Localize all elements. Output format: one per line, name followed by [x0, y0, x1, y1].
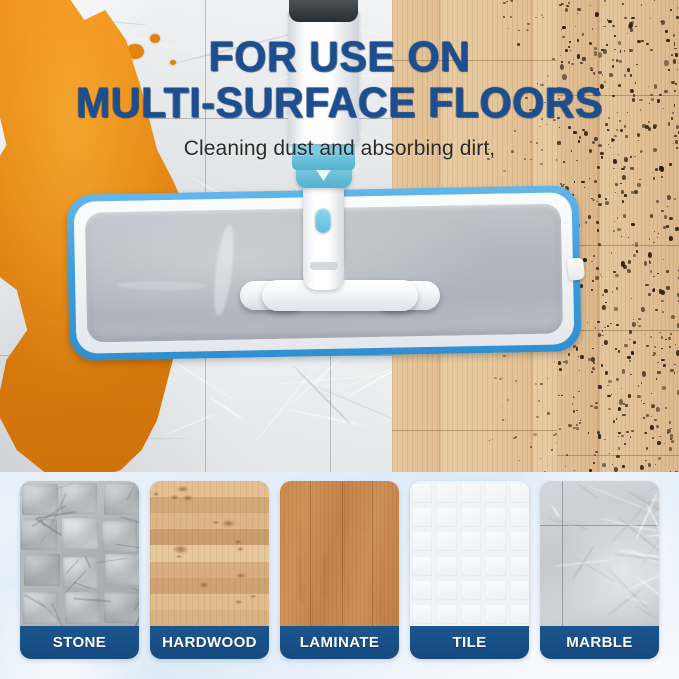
- dirt-speck: [507, 336, 509, 338]
- tile-square: [412, 483, 432, 503]
- dirt-speck: [499, 378, 502, 380]
- dirt-speck: [640, 465, 644, 470]
- dirt-speck: [646, 414, 649, 417]
- dirt-speck: [668, 69, 670, 71]
- dirt-speck: [637, 40, 641, 43]
- swatch-laminate-texture: [280, 481, 399, 626]
- dirt-speck: [536, 416, 538, 418]
- dirt-speck: [576, 347, 578, 349]
- dirt-speck: [577, 8, 581, 12]
- dirt-speck: [622, 414, 626, 417]
- laminate-grain: [379, 590, 382, 623]
- dirt-speck: [574, 181, 576, 183]
- dirt-speck: [571, 63, 574, 65]
- dirt-speck: [507, 188, 508, 189]
- dirt-speck: [631, 430, 634, 432]
- dirt-speck: [557, 117, 560, 119]
- dirt-speck: [612, 59, 615, 61]
- dirt-speck: [597, 321, 600, 323]
- dirt-speck: [559, 4, 561, 6]
- dirt-speck: [627, 68, 630, 71]
- dirt-speck: [565, 289, 568, 293]
- dirt-speck: [650, 336, 652, 338]
- tile-square: [485, 483, 505, 503]
- dirt-speck: [610, 323, 612, 325]
- dirt-speck: [612, 65, 614, 68]
- marble-grout-line: [205, 0, 206, 472]
- dirt-speck: [569, 41, 571, 43]
- dirt-speck: [585, 221, 587, 224]
- dirt-speck: [669, 421, 671, 423]
- dirt-speck: [557, 141, 561, 145]
- dirt-speck: [632, 322, 636, 326]
- dirt-speck: [514, 130, 516, 132]
- dirt-speck: [622, 465, 625, 468]
- dirt-speck: [581, 181, 585, 184]
- dirt-speck: [521, 221, 522, 222]
- laminate-grain: [381, 617, 385, 626]
- dirt-speck: [615, 348, 617, 350]
- dirt-speck: [507, 399, 509, 401]
- dirt-speck: [593, 462, 595, 464]
- tile-square: [510, 580, 529, 600]
- dirt-speck: [627, 356, 630, 359]
- dirt-speck: [659, 94, 662, 96]
- dirt-speck: [670, 9, 673, 11]
- dirt-speck: [572, 403, 573, 405]
- dirt-speck: [559, 282, 562, 286]
- dirt-speck: [641, 40, 644, 43]
- dirt-speck: [551, 449, 553, 451]
- dirt-speck: [674, 44, 675, 46]
- dirt-speck: [573, 131, 576, 135]
- dirt-speck: [578, 391, 580, 392]
- dirt-speck: [592, 28, 593, 30]
- dirt-speck: [562, 276, 565, 279]
- dirt-speck: [560, 183, 562, 185]
- dirt-speck: [530, 247, 531, 248]
- marble-vein: [259, 88, 404, 154]
- dirt-speck: [601, 156, 603, 159]
- dirt-speck: [576, 283, 577, 285]
- dirt-speck: [565, 49, 567, 52]
- dirt-speck: [657, 237, 658, 238]
- dirt-speck: [530, 159, 531, 160]
- dirt-speck: [488, 351, 491, 353]
- dirt-speck: [638, 318, 640, 321]
- dirt-speck: [649, 103, 650, 104]
- dirt-speck: [565, 466, 567, 467]
- marble-grout-line: [562, 481, 563, 626]
- dirt-speck: [621, 236, 622, 237]
- dirt-speck: [577, 287, 581, 291]
- dirt-speck: [662, 311, 665, 313]
- dirt-speck: [571, 237, 574, 239]
- dirt-speck: [676, 125, 679, 129]
- wood-knot: [222, 520, 235, 527]
- dirt-speck: [617, 217, 619, 219]
- dirt-speck: [508, 262, 511, 264]
- dirt-speck: [552, 252, 555, 254]
- dirt-speck: [594, 47, 597, 50]
- dirt-speck: [614, 49, 616, 50]
- dirt-speck: [618, 407, 621, 411]
- dirt-speck: [619, 60, 622, 63]
- dirt-speck: [656, 425, 659, 428]
- dirt-speck: [591, 371, 593, 373]
- dirt-speck: [513, 437, 516, 439]
- dirt-speck: [677, 69, 678, 70]
- dirt-speck: [657, 273, 659, 275]
- dirt-speck: [536, 301, 539, 303]
- dirt-speck: [498, 324, 499, 325]
- dirt-speck: [630, 167, 633, 171]
- wood-plank-seam: [557, 330, 679, 331]
- dirt-speck: [598, 194, 602, 198]
- dirt-speck: [635, 26, 638, 28]
- dirt-speck: [562, 26, 565, 29]
- dirt-speck: [560, 64, 564, 70]
- wood-plank-seam: [392, 430, 557, 431]
- dirt-speck: [568, 126, 571, 129]
- dirt-speck: [619, 120, 621, 122]
- swatch-stone[interactable]: STONE: [20, 481, 139, 659]
- dirt-speck: [661, 20, 665, 25]
- dirt-speck: [577, 13, 579, 14]
- dirt-speck: [568, 2, 570, 4]
- dirt-speck: [652, 437, 654, 440]
- dirt-speck: [558, 361, 561, 365]
- tile-square: [485, 580, 505, 600]
- dirt-speck: [650, 425, 654, 430]
- tile-square: [436, 604, 456, 624]
- dirt-speck: [558, 337, 559, 338]
- swatch-tile[interactable]: TILE: [410, 481, 529, 659]
- hardwood-plank: [150, 497, 269, 514]
- dirt-speck: [646, 43, 649, 45]
- dirt-speck: [617, 228, 621, 231]
- swatch-stone-texture: [20, 481, 139, 626]
- dirt-speck: [658, 233, 659, 234]
- marble-vein: [176, 31, 301, 64]
- wood-knot: [235, 600, 242, 604]
- swatch-laminate[interactable]: LAMINATE: [280, 481, 399, 659]
- dirt-speck: [564, 304, 566, 305]
- dirt-speck: [674, 90, 676, 92]
- dirt-speck: [627, 33, 628, 34]
- dirt-speck: [502, 377, 504, 378]
- hardwood-plank: [150, 545, 269, 562]
- dirt-speck: [675, 83, 677, 85]
- dirt-speck: [576, 410, 578, 411]
- marble-vein: [269, 263, 355, 363]
- dirt-speck: [576, 223, 580, 228]
- dirt-speck: [547, 202, 548, 203]
- wood-knot: [176, 555, 183, 559]
- dirt-speck: [598, 333, 601, 337]
- tile-square: [412, 556, 432, 576]
- dirt-speck: [648, 463, 650, 466]
- dirt-speck: [613, 159, 616, 164]
- dirt-speck: [598, 203, 602, 206]
- laminate-plank-seam: [372, 481, 373, 626]
- hardwood-plank: [150, 481, 269, 498]
- dirt-speck: [541, 14, 544, 16]
- dirt-speck: [565, 186, 569, 191]
- tile-square: [412, 531, 432, 551]
- dirt-speck: [592, 280, 594, 282]
- dirt-speck: [503, 170, 506, 172]
- dirt-speck: [611, 394, 612, 395]
- dirt-speck: [561, 185, 564, 187]
- dirt-speck: [661, 359, 664, 361]
- dirt-speck: [506, 341, 508, 343]
- dirt-speck: [644, 261, 647, 265]
- dirt-speck: [540, 163, 543, 165]
- dirt-speck: [596, 201, 598, 203]
- dirt-speck: [613, 230, 614, 232]
- swatch-hardwood[interactable]: HARDWOOD: [150, 481, 269, 659]
- dirt-speck: [549, 100, 550, 101]
- dirt-speck: [525, 237, 527, 239]
- dirt-speck: [629, 49, 632, 52]
- dirt-speck: [629, 360, 631, 363]
- dirt-speck: [672, 438, 673, 440]
- dirt-speck: [539, 308, 541, 309]
- floor-zone-dirty-wood: [557, 0, 679, 472]
- dirt-speck: [502, 419, 505, 421]
- dirt-speck: [622, 3, 624, 5]
- tile-square: [485, 556, 505, 576]
- dirt-speck: [604, 439, 606, 440]
- dirt-speck: [598, 71, 601, 74]
- tile-square: [461, 531, 481, 551]
- swatch-marble[interactable]: MARBLE: [540, 481, 659, 659]
- dirt-speck: [532, 109, 535, 111]
- dirt-speck: [618, 447, 621, 450]
- hardwood-plank: [150, 578, 269, 595]
- dirt-speck: [517, 348, 519, 349]
- dirt-speck: [666, 286, 670, 291]
- dirt-speck: [563, 361, 565, 363]
- dirt-speck: [654, 346, 656, 348]
- dirt-speck: [624, 74, 627, 76]
- dirt-speck: [594, 137, 598, 141]
- dirt-speck: [595, 451, 598, 454]
- dirt-speck: [608, 20, 612, 22]
- dirt-speck: [569, 305, 570, 306]
- dirt-speck: [537, 83, 538, 84]
- dirt-speck: [557, 87, 561, 91]
- dirt-speck: [624, 50, 626, 52]
- dirt-speck: [610, 147, 611, 148]
- tile-square: [461, 556, 481, 576]
- dirt-speck: [605, 201, 609, 205]
- dirt-speck: [591, 289, 594, 292]
- dirt-speck: [570, 50, 571, 51]
- dirt-speck: [576, 424, 578, 425]
- dirt-speck: [600, 84, 604, 88]
- dirt-speck: [592, 141, 595, 145]
- dirt-speck: [579, 422, 582, 424]
- dirt-speck: [568, 424, 572, 428]
- dirt-speck: [642, 371, 646, 377]
- dirt-speck: [541, 118, 543, 119]
- tile-square: [485, 604, 505, 624]
- dirt-speck: [674, 104, 676, 106]
- dirt-speck: [652, 329, 653, 330]
- dirt-speck: [653, 242, 655, 244]
- wood-knot: [199, 582, 209, 588]
- dirt-speck: [668, 337, 670, 340]
- dirt-speck: [666, 39, 670, 42]
- dirt-speck: [632, 244, 633, 245]
- dirt-speck: [665, 30, 667, 33]
- dirt-speck: [525, 154, 526, 155]
- dirt-speck: [579, 136, 581, 139]
- dirt-speck: [580, 62, 583, 64]
- dirt-speck: [578, 140, 580, 143]
- dirt-speck: [654, 84, 658, 89]
- dirt-speck: [582, 57, 586, 61]
- dirt-speck: [675, 344, 676, 345]
- dirt-speck: [665, 407, 667, 409]
- dirt-speck: [605, 302, 607, 303]
- dirt-speck: [492, 228, 494, 230]
- dirt-speck: [596, 267, 599, 270]
- dirt-speck: [492, 439, 494, 440]
- dirt-speck: [493, 157, 494, 158]
- tile-square: [461, 580, 481, 600]
- tile-square: [485, 507, 505, 527]
- dirt-speck: [488, 149, 490, 151]
- dirt-speck: [510, 16, 512, 18]
- dirt-speck: [547, 412, 550, 414]
- dirt-speck: [622, 200, 624, 203]
- dirt-speck: [643, 417, 645, 419]
- dirt-speck: [589, 42, 592, 45]
- dirt-speck: [607, 385, 609, 387]
- dirt-speck: [570, 251, 574, 255]
- hero-photo: FOR USE ON MULTI-SURFACE FLOORS Cleaning…: [0, 0, 679, 472]
- hardwood-plank: [150, 562, 269, 579]
- dirt-speck: [588, 215, 591, 219]
- dirt-speck: [517, 251, 518, 252]
- dirt-speck: [661, 348, 663, 349]
- marble-vein: [300, 175, 377, 217]
- dirt-speck: [672, 143, 673, 144]
- dirt-speck: [642, 124, 645, 128]
- dirt-speck: [657, 371, 660, 374]
- dirt-speck: [670, 333, 672, 335]
- dirt-speck: [671, 440, 674, 443]
- dirt-speck: [621, 168, 625, 171]
- dirt-speck: [643, 403, 645, 404]
- swatch-marble-texture: [540, 481, 659, 626]
- dirt-speck: [631, 17, 635, 20]
- dirt-speck: [667, 206, 668, 207]
- dirt-speck: [594, 74, 596, 76]
- wood-knot: [236, 573, 246, 578]
- dirt-speck: [639, 99, 643, 101]
- dirt-speck: [621, 435, 624, 438]
- dirt-speck: [600, 152, 604, 154]
- dirt-speck: [627, 112, 628, 113]
- dirt-speck: [670, 434, 673, 438]
- dirt-speck: [633, 94, 635, 96]
- dirt-speck: [552, 212, 555, 214]
- dirt-speck: [637, 133, 641, 138]
- dirt-speck: [562, 74, 566, 80]
- dirt-speck: [570, 215, 571, 216]
- dirt-speck: [535, 17, 537, 18]
- dirt-speck: [592, 348, 594, 349]
- dirt-speck: [644, 334, 645, 335]
- dirt-speck: [494, 377, 497, 379]
- marble-vein: [550, 505, 560, 519]
- dirt-speck: [528, 312, 529, 313]
- dirt-speck: [554, 361, 556, 362]
- dirt-speck: [558, 346, 560, 348]
- dirt-speck: [515, 239, 518, 242]
- dirt-speck: [565, 8, 568, 12]
- dirt-speck: [565, 337, 568, 340]
- dirt-speck: [596, 88, 599, 91]
- dirt-speck: [603, 49, 607, 53]
- tile-square: [510, 531, 529, 551]
- dirt-speck: [520, 262, 521, 263]
- dirt-speck: [613, 271, 615, 273]
- tile-square: [436, 556, 456, 576]
- tile-square: [461, 483, 481, 503]
- dirt-speck: [623, 265, 627, 269]
- dirt-speck: [541, 149, 543, 151]
- dirt-speck: [660, 166, 664, 171]
- dirt-speck: [622, 175, 626, 179]
- dirt-speck: [675, 53, 678, 58]
- dirt-speck: [628, 394, 631, 397]
- dirt-speck: [625, 404, 628, 408]
- dirt-speck: [618, 436, 619, 437]
- dirt-speck: [558, 98, 560, 100]
- dirt-speck: [503, 2, 506, 4]
- dirt-speck: [677, 7, 678, 8]
- dirt-speck: [605, 371, 608, 375]
- dirt-speck: [607, 395, 611, 398]
- dirt-speck: [530, 446, 532, 448]
- dirt-speck: [502, 406, 503, 407]
- dirt-speck: [568, 61, 570, 63]
- dirt-speck: [655, 309, 658, 311]
- marble-vein: [183, 312, 238, 332]
- dirt-speck: [566, 5, 568, 7]
- dirt-speck: [593, 362, 596, 364]
- dirt-speck: [655, 168, 657, 171]
- dirt-speck: [674, 198, 676, 200]
- dirt-speck: [618, 432, 620, 434]
- dirt-speck: [495, 295, 496, 296]
- dirt-speck: [653, 124, 657, 128]
- tile-square: [412, 507, 432, 527]
- dirt-speck: [515, 380, 517, 382]
- dirt-speck: [560, 55, 561, 56]
- dirt-speck: [584, 131, 588, 136]
- dirt-speck: [616, 378, 619, 381]
- hardwood-plank: [150, 529, 269, 546]
- dirt-speck: [553, 119, 556, 121]
- dirt-speck: [641, 382, 642, 383]
- dirt-speck: [566, 293, 570, 298]
